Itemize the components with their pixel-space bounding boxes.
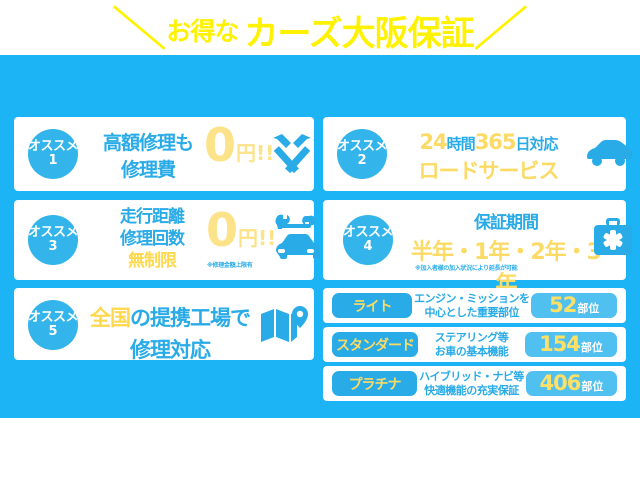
card-3-price-number: 0 (206, 210, 238, 251)
card-4-note: ※加入者様の加入状況により延長が可能 (415, 263, 517, 272)
card-2-line-2: ロードサービス (401, 155, 576, 185)
card-4-text: 保証期間 半年・1年・2年・3年 (411, 208, 601, 298)
plan-row-standard[interactable]: スタンダード ステアリング等 お車の基本機能 154 部位 (323, 327, 626, 362)
plan-count-unit: 部位 (581, 339, 603, 355)
card-1-price: 0 円!! (204, 125, 274, 166)
feature-card-2: オススメ 2 24時間365日対応 ロードサービス (323, 117, 626, 191)
badge-number: 4 (363, 240, 372, 254)
card-1-line-1: 高額修理も (88, 128, 208, 155)
recommend-badge-5: オススメ 5 (28, 300, 78, 350)
badge-label: オススメ (337, 140, 387, 154)
plan-desc-line-1: エンジン・ミッションを (414, 292, 530, 305)
recommend-badge-3: オススメ 3 (28, 215, 78, 265)
plan-desc-line-2: お車の基本機能 (420, 345, 523, 358)
badge-label: オススメ (28, 140, 78, 154)
plan-description: エンジン・ミッションを 中心とした重要部位 (412, 292, 532, 318)
card-2-hours-unit: 時間 (447, 135, 475, 153)
badge-number: 5 (48, 325, 57, 339)
card-2-days: 365 (475, 130, 516, 154)
recommend-badge-2: オススメ 2 (337, 129, 387, 179)
plan-desc-line-1: ステアリング等 (420, 331, 523, 344)
card-3-price: 0 円!! (206, 210, 276, 251)
title-text-main: カーズ大阪保証 (244, 6, 473, 55)
plan-name-badge: プラチナ (332, 371, 417, 396)
title-slash-left: ＼ (113, 7, 168, 53)
plan-part-count-badge: 52 部位 (531, 293, 617, 318)
card-3-note: ※修理金額上限有 (207, 260, 252, 269)
card-3-line-2: 修理回数 (98, 229, 206, 251)
plan-desc-line-1: ハイブリッド・ナビ等 (419, 370, 524, 383)
plan-count-number: 406 (540, 371, 581, 395)
feature-card-5: オススメ 5 全国の提携工場で 修理対応 (14, 288, 314, 360)
page-title: ＼ お得な カーズ大阪保証 ／ (0, 8, 640, 52)
plan-desc-line-2: 快適機能の充実保証 (419, 384, 524, 397)
card-1-price-number: 0 (204, 125, 236, 166)
card-1-line-2: 修理費 (88, 155, 208, 182)
card-5-line-1-rest: の提携工場で (130, 306, 250, 330)
card-3-line-3: 無制限 (98, 251, 206, 273)
card-5-highlight: 全国 (90, 306, 130, 330)
badge-number: 3 (48, 240, 57, 254)
badge-label: オススメ (343, 226, 393, 240)
card-5-line-2: 修理対応 (90, 334, 250, 364)
crossed-hammers-icon (269, 132, 315, 176)
plan-name-badge: ライト (332, 293, 412, 318)
card-2-line-1: 24時間365日対応 (401, 130, 576, 154)
car-side-icon (585, 137, 633, 167)
plan-row-platinum[interactable]: プラチナ ハイブリッド・ナビ等 快適機能の充実保証 406 部位 (323, 366, 626, 401)
plan-description: ステアリング等 お車の基本機能 (418, 331, 525, 357)
card-5-line-1: 全国の提携工場で (90, 302, 250, 332)
card-3-price-unit: 円!! (238, 222, 276, 251)
map-pin-icon (259, 304, 311, 344)
plan-description: ハイブリッド・ナビ等 快適機能の充実保証 (417, 370, 526, 396)
badge-number: 1 (48, 154, 57, 168)
card-3-text: 走行距離 修理回数 無制限 (98, 207, 206, 272)
badge-label: オススメ (28, 311, 78, 325)
card-3-line-1: 走行距離 (98, 207, 206, 229)
plan-part-count-badge: 154 部位 (525, 332, 617, 357)
card-1-text: 高額修理も 修理費 (88, 128, 208, 182)
title-slash-right: ／ (472, 7, 527, 53)
plan-count-unit: 部位 (581, 378, 603, 394)
feature-card-3: オススメ 3 走行距離 修理回数 無制限 0 円!! ※修理金額上限有 (14, 200, 314, 280)
plan-count-unit: 部位 (577, 300, 599, 316)
first-aid-kit-icon (591, 215, 635, 259)
card-2-days-unit: 日対応 (516, 135, 558, 153)
plan-part-count-badge: 406 部位 (526, 371, 617, 396)
plan-row-light[interactable]: ライト エンジン・ミッションを 中心とした重要部位 52 部位 (323, 288, 626, 323)
plan-desc-line-2: 中心とした重要部位 (414, 306, 530, 319)
feature-card-1: オススメ 1 高額修理も 修理費 0 円!! (14, 117, 314, 191)
plan-count-number: 154 (539, 332, 580, 356)
card-2-hours: 24 (419, 130, 446, 154)
feature-card-4: オススメ 4 保証期間 半年・1年・2年・3年 ※加入者様の加入状況により延長が… (323, 200, 626, 280)
wrench-car-icon (272, 213, 320, 267)
plan-count-number: 52 (549, 293, 576, 317)
badge-label: オススメ (28, 226, 78, 240)
recommend-badge-1: オススメ 1 (28, 129, 78, 179)
plan-name-badge: スタンダード (332, 332, 418, 357)
recommend-badge-4: オススメ 4 (343, 215, 393, 265)
title-text-small: お得な (166, 12, 238, 48)
card-5-text: 全国の提携工場で 修理対応 (90, 302, 250, 364)
card-4-line-1: 保証期間 (411, 208, 601, 233)
card-2-text: 24時間365日対応 ロードサービス (401, 130, 576, 185)
badge-number: 2 (357, 154, 366, 168)
